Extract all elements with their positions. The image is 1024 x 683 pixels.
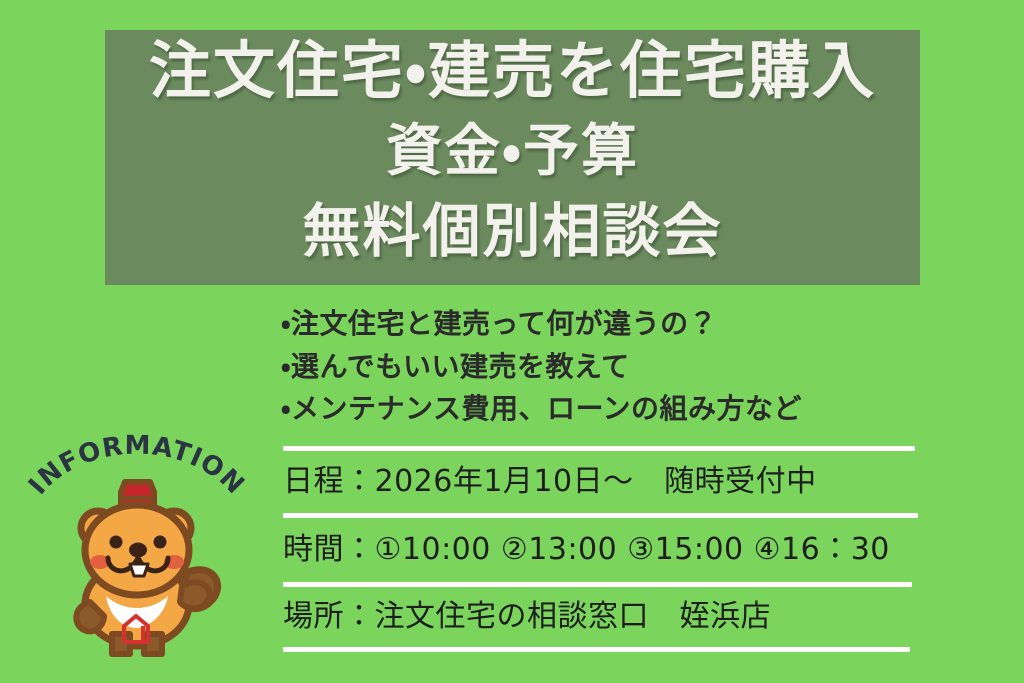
title-line-1: 注文住宅・建売を住宅購入 <box>149 40 876 102</box>
bullet-item: ・メンテナンス費用、ローンの組み方など <box>281 388 941 431</box>
poster-canvas: 注文住宅・建売を住宅購入 資金・予算 無料個別相談会 ・注文住宅と建売って何が違… <box>0 0 1024 683</box>
info-row-date: 日程：2026年1月10日〜 随時受付中 <box>283 451 917 513</box>
info-row-place: 場所：注文住宅の相談窓口 姪浜店 <box>283 587 917 647</box>
info-row-time: 時間：①10:00 ②13:00 ③15:00 ④16：30 <box>283 518 917 582</box>
title-line-3: 無料個別相談会 <box>302 202 722 260</box>
bullet-list: ・注文住宅と建売って何が違うの？ ・選んでもいい建売を教えて ・メンテナンス費用… <box>281 303 941 431</box>
title-line-2: 資金・予算 <box>386 124 639 180</box>
divider-rule <box>283 647 910 652</box>
title-band: 注文住宅・建売を住宅購入 資金・予算 無料個別相談会 <box>105 30 920 285</box>
information-badge: INFORMATION <box>22 432 252 660</box>
bullet-item: ・選んでもいい建売を教えて <box>281 346 941 389</box>
info-block: 日程：2026年1月10日〜 随時受付中 時間：①10:00 ②13:00 ③1… <box>283 446 917 652</box>
squirrel-mascot-icon <box>50 476 225 666</box>
bullet-item: ・注文住宅と建売って何が違うの？ <box>281 303 941 346</box>
